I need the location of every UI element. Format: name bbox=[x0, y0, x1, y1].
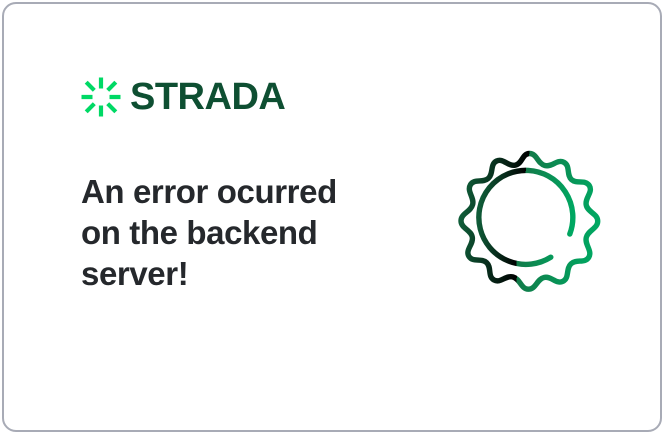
gear-inner-arc bbox=[479, 170, 573, 264]
strada-asterisk-icon bbox=[80, 76, 122, 118]
error-message-text: An error ocurred on the backend server! bbox=[81, 171, 381, 294]
error-card: STRADA An error ocurred on the backend s… bbox=[2, 2, 662, 432]
gear-icon bbox=[444, 139, 619, 314]
brand-wordmark: STRADA bbox=[130, 78, 285, 116]
brand-logo: STRADA bbox=[80, 74, 285, 120]
